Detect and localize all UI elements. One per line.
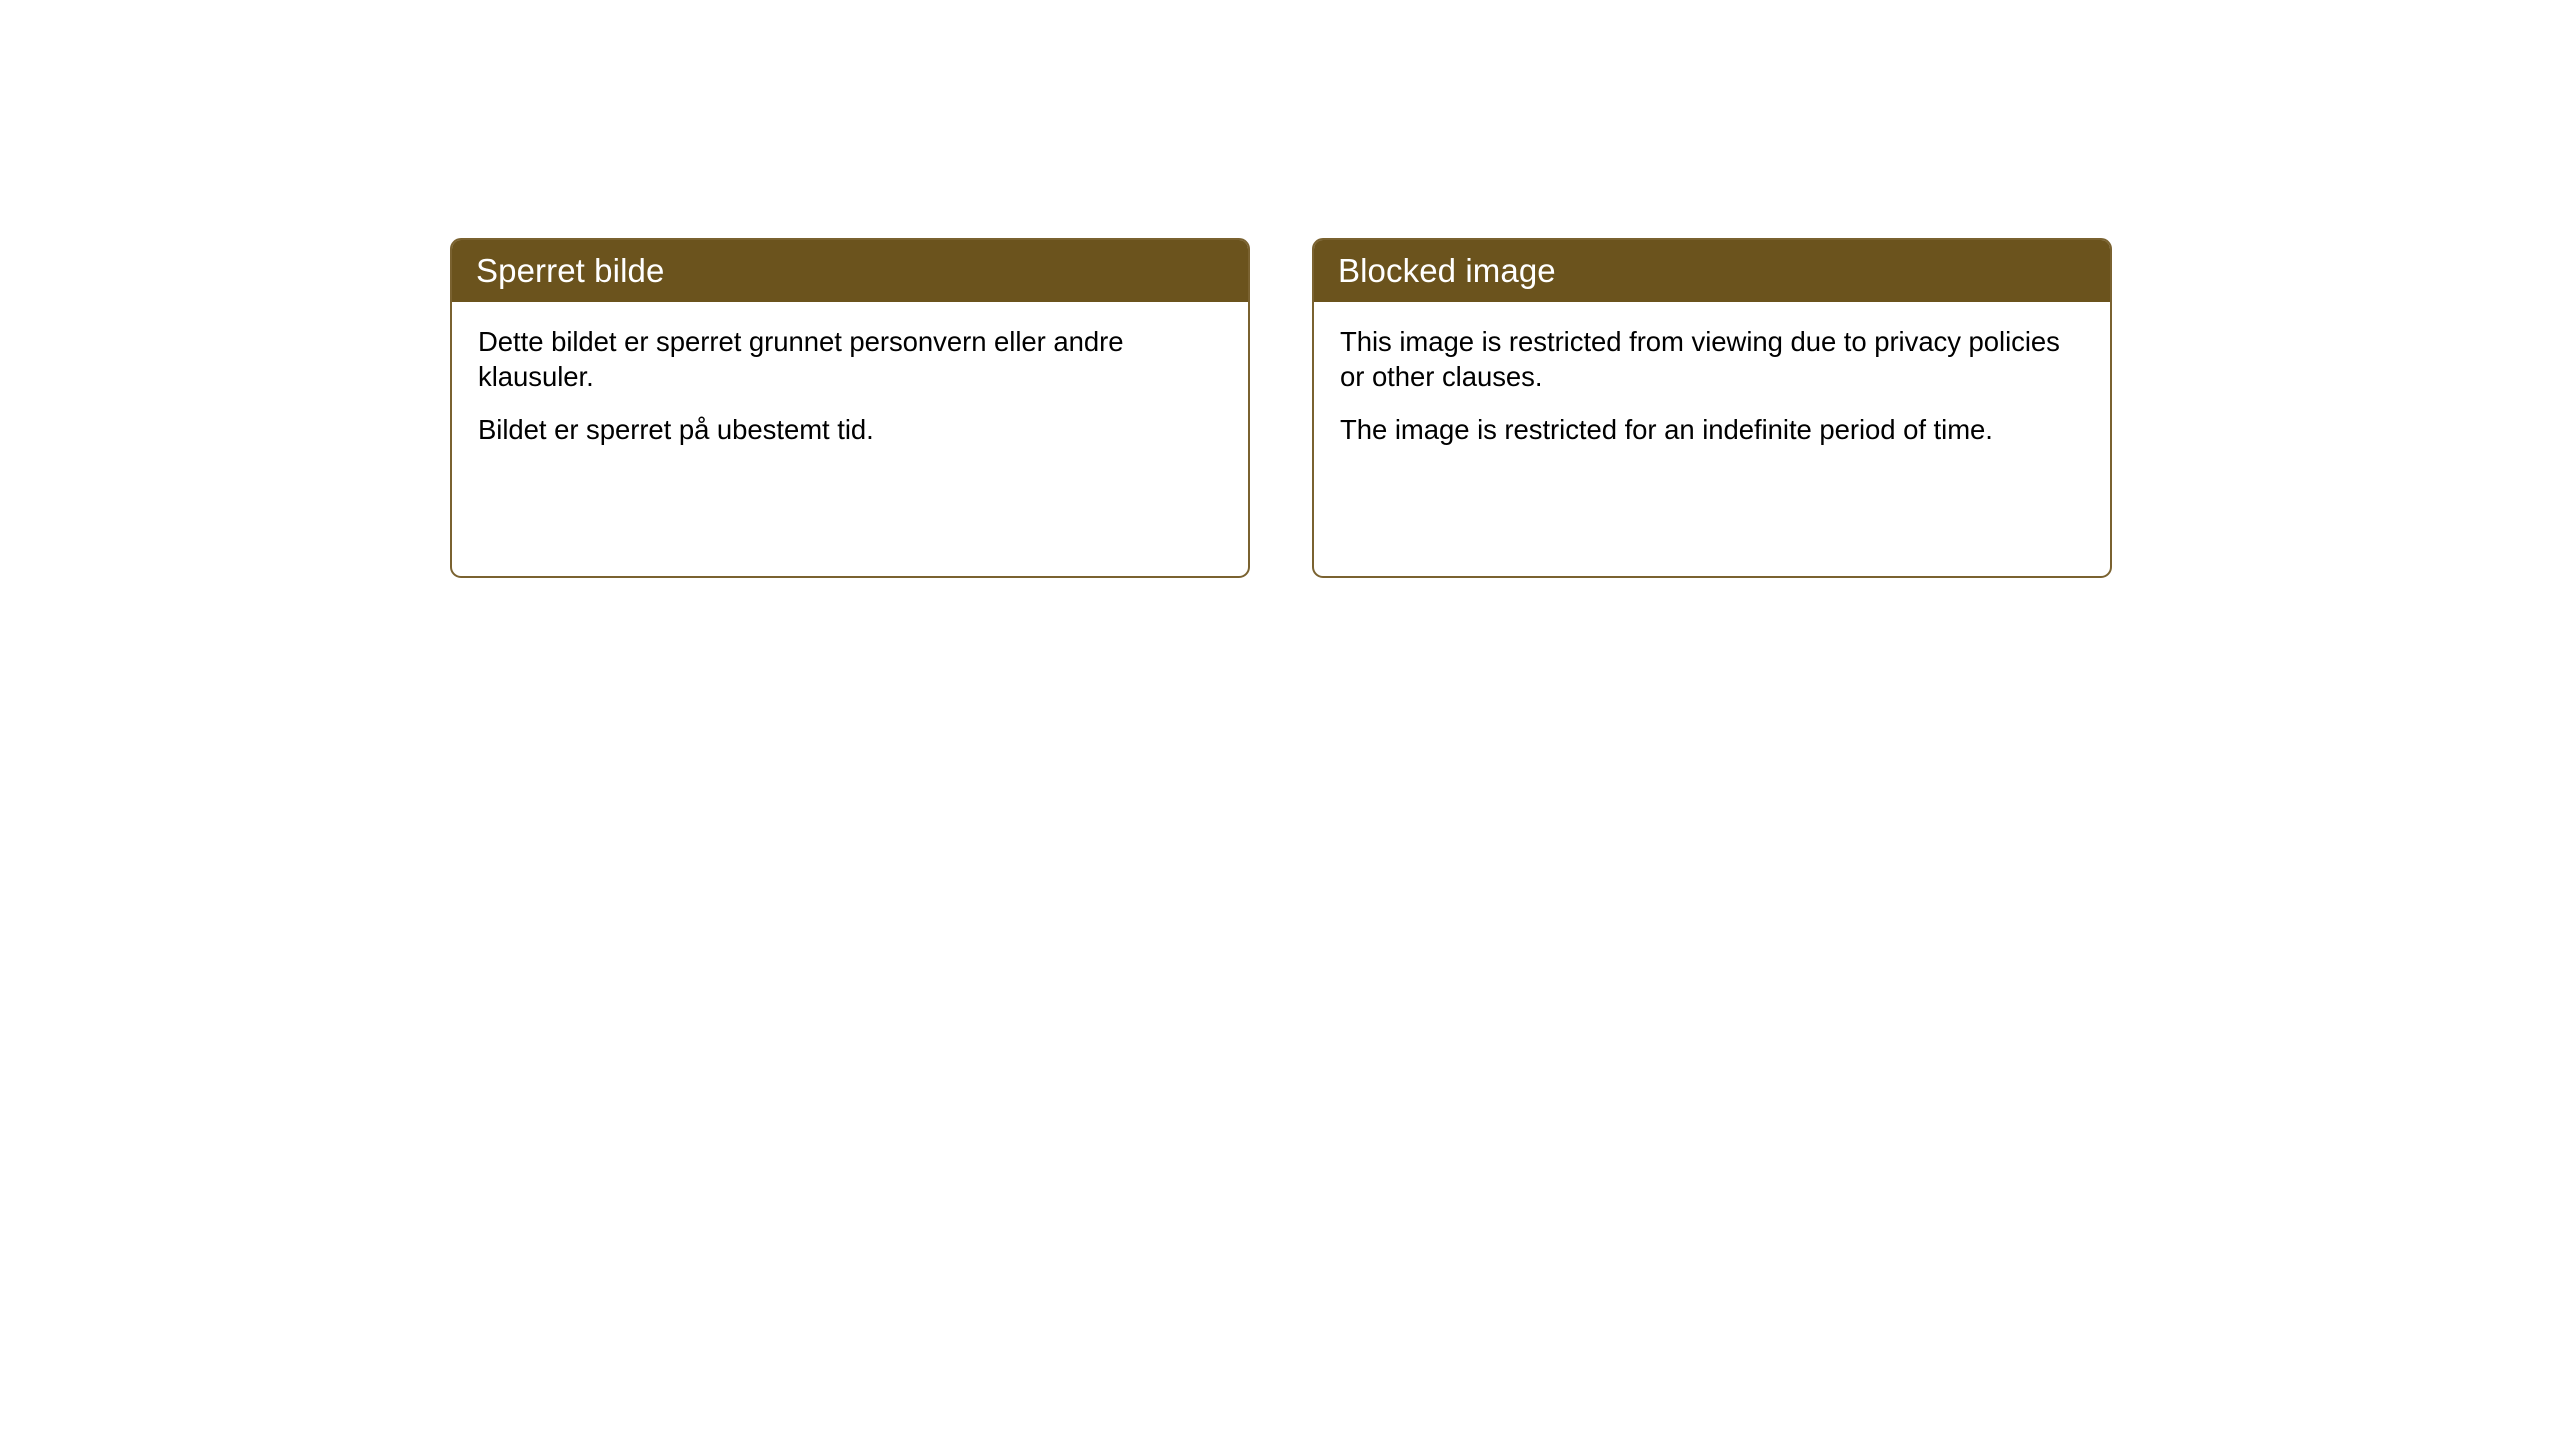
card-paragraph-reason-norwegian: Dette bildet er sperret grunnet personve… <box>478 324 1224 394</box>
card-body-norwegian: Dette bildet er sperret grunnet personve… <box>452 302 1248 447</box>
card-title-norwegian: Sperret bilde <box>476 254 664 287</box>
paragraph-spacer <box>478 394 1224 412</box>
page-canvas: Sperret bilde Dette bildet er sperret gr… <box>0 0 2560 1440</box>
card-title-english: Blocked image <box>1338 254 1556 287</box>
card-header-norwegian: Sperret bilde <box>452 240 1248 302</box>
card-paragraph-duration-english: The image is restricted for an indefinit… <box>1340 412 2086 447</box>
card-paragraph-duration-norwegian: Bildet er sperret på ubestemt tid. <box>478 412 1224 447</box>
blocked-image-notice-card-norwegian: Sperret bilde Dette bildet er sperret gr… <box>450 238 1250 578</box>
paragraph-spacer <box>1340 394 2086 412</box>
card-paragraph-reason-english: This image is restricted from viewing du… <box>1340 324 2086 394</box>
card-body-english: This image is restricted from viewing du… <box>1314 302 2110 447</box>
card-header-english: Blocked image <box>1314 240 2110 302</box>
blocked-image-notice-card-english: Blocked image This image is restricted f… <box>1312 238 2112 578</box>
